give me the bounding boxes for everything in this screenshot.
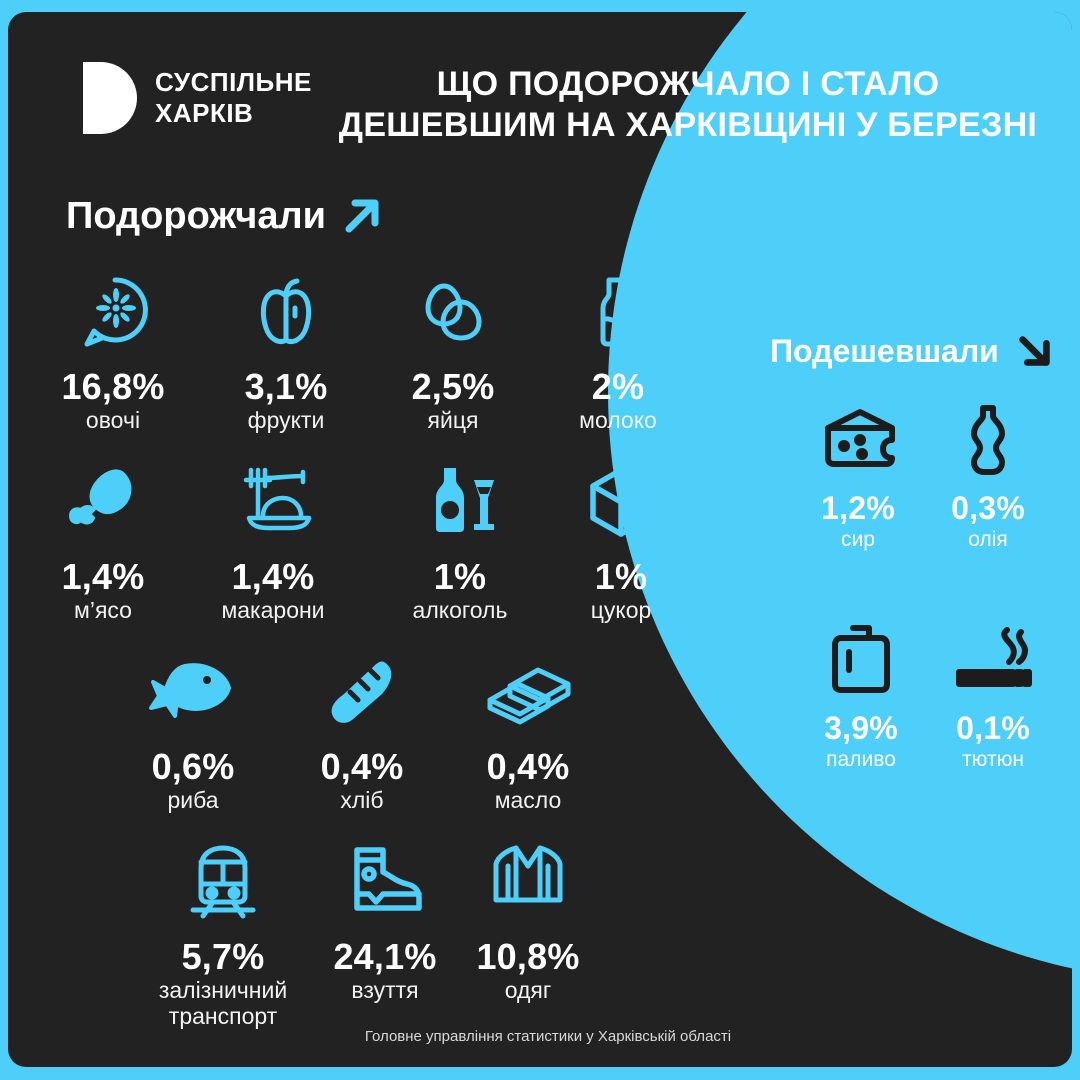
butter-icon — [428, 648, 628, 734]
item-label: одяг — [428, 978, 628, 1004]
item-label: овочі — [13, 408, 213, 434]
section-heading-increased: Подорожчали — [66, 194, 384, 238]
item-label: тютюн — [913, 748, 1072, 772]
source-caption: Головне управління статистики у Харківсь… — [8, 1028, 1072, 1045]
jacket-icon — [428, 838, 628, 924]
title-line-1: ЩО ПОДОРОЖЧАЛО І СТАЛО — [308, 64, 1068, 105]
sugar-cube-icon — [521, 458, 721, 544]
item-label: молоко — [518, 408, 718, 434]
section-heading-decreased: Подешевшали — [770, 330, 1055, 372]
item-value: 0,3% — [908, 492, 1068, 526]
item-label: олія — [908, 528, 1068, 552]
arrow-down-right-icon — [1013, 330, 1055, 372]
section-label-increased: Подорожчали — [66, 195, 326, 238]
pasta-plate-icon — [173, 458, 373, 544]
list-item: 0,1% тютюн — [913, 624, 1072, 771]
brand-line-2: ХАРКІВ — [155, 98, 312, 129]
list-item: 0,3% олія — [908, 404, 1068, 551]
item-value: 10,8% — [428, 938, 628, 976]
section-label-decreased: Подешевшали — [770, 333, 999, 370]
cigarette-icon — [913, 624, 1072, 700]
item-label: макарони — [173, 598, 373, 624]
list-item: 16,8% овочі — [13, 268, 213, 434]
arrow-up-right-icon — [340, 194, 384, 238]
dark-panel: СУСПІЛЬНЕ ХАРКІВ ЩО ПОДОРОЖЧАЛО І СТАЛО … — [8, 12, 1072, 1067]
item-value: 1% — [521, 558, 721, 596]
list-item: 10,8% одяг — [428, 838, 628, 1004]
list-item: 1,4% макарони — [173, 458, 373, 624]
item-value: 1,4% — [173, 558, 373, 596]
brand-name: СУСПІЛЬНЕ ХАРКІВ — [155, 67, 312, 128]
item-value: 0,4% — [428, 748, 628, 786]
half-circle-logo-icon — [83, 62, 137, 134]
item-label: цукор — [521, 598, 721, 624]
brand-line-1: СУСПІЛЬНЕ — [155, 67, 312, 98]
list-item: 2% молоко — [518, 268, 718, 434]
item-value: 0,1% — [913, 712, 1072, 746]
page-title: ЩО ПОДОРОЖЧАЛО І СТАЛО ДЕШЕВШИМ НА ХАРКІ… — [308, 64, 1068, 147]
item-label: масло — [428, 788, 628, 814]
cucumber-icon — [13, 268, 213, 354]
item-value: 16,8% — [13, 368, 213, 406]
title-line-2: ДЕШЕВШИМ НА ХАРКІВЩИНІ У БЕРЕЗНІ — [308, 105, 1068, 146]
list-item: 1% цукор — [521, 458, 721, 624]
milk-bottle-icon — [518, 268, 718, 354]
item-value: 2% — [518, 368, 718, 406]
brand-logo: СУСПІЛЬНЕ ХАРКІВ — [83, 62, 312, 134]
oil-bottle-icon — [908, 404, 1068, 480]
list-item: 0,4% масло — [428, 648, 628, 814]
infographic-canvas: СУСПІЛЬНЕ ХАРКІВ ЩО ПОДОРОЖЧАЛО І СТАЛО … — [0, 0, 1080, 1080]
